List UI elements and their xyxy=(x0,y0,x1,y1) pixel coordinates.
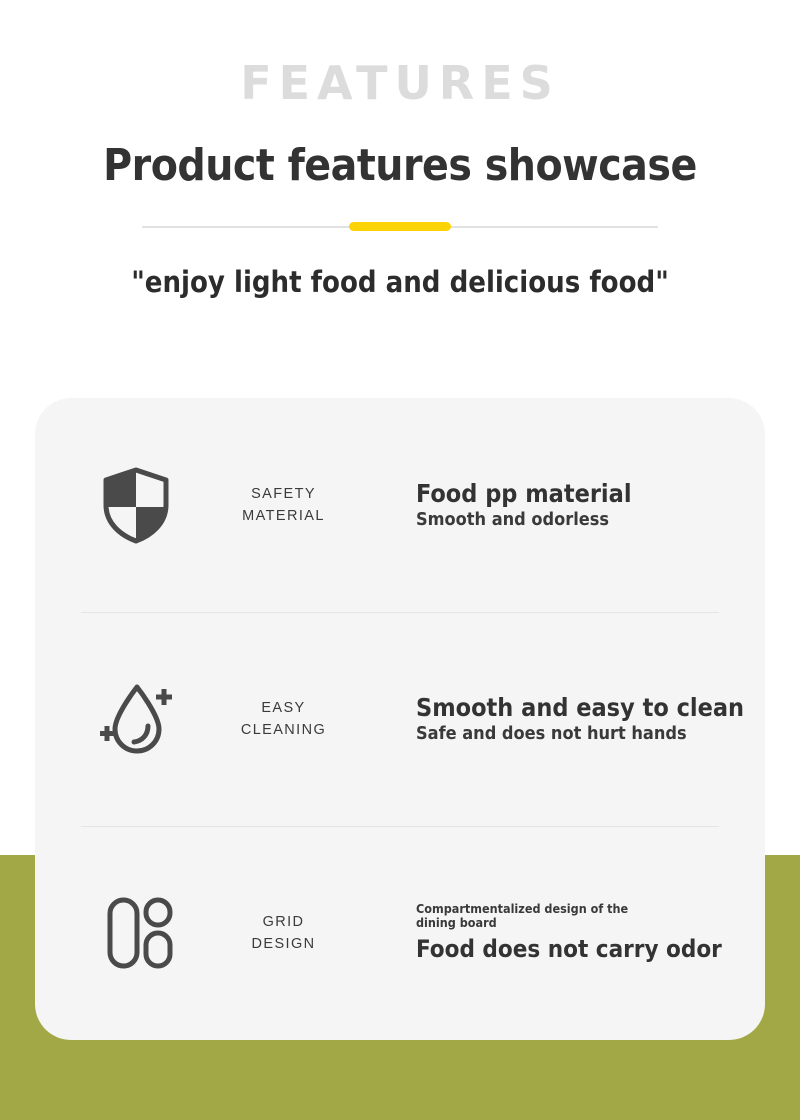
feature-label-line2: MATERIAL xyxy=(191,505,376,527)
water-drop-sparkle-icon xyxy=(81,677,191,761)
feature-row-safety-material: SAFETY MATERIAL Food pp material Smooth … xyxy=(35,398,765,612)
title-divider xyxy=(142,222,658,232)
feature-label-line2: CLEANING xyxy=(191,719,376,741)
page-subtitle: "enjoy light food and delicious food" xyxy=(0,265,800,299)
feature-label-line1: SAFETY xyxy=(191,483,376,505)
feature-text-easy-cleaning: Smooth and easy to clean Safe and does n… xyxy=(376,693,765,745)
grid-blocks-icon xyxy=(81,892,191,974)
page-header: FEATURES Product features showcase "enjo… xyxy=(0,0,800,299)
feature-headline: Food pp material xyxy=(416,479,765,509)
feature-subline: Smooth and odorless xyxy=(416,509,765,532)
feature-text-safety-material: Food pp material Smooth and odorless xyxy=(376,479,765,531)
feature-row-grid-design: GRID DESIGN Compartmentalized design of … xyxy=(35,826,765,1040)
page-title: Product features showcase xyxy=(0,142,800,190)
shield-icon xyxy=(81,465,191,545)
feature-label-line2: DESIGN xyxy=(191,933,376,955)
accent-pill xyxy=(349,222,451,231)
features-card: SAFETY MATERIAL Food pp material Smooth … xyxy=(35,398,765,1040)
feature-label-easy-cleaning: EASY CLEANING xyxy=(191,697,376,742)
feature-label-safety-material: SAFETY MATERIAL xyxy=(191,483,376,528)
features-list: SAFETY MATERIAL Food pp material Smooth … xyxy=(35,398,765,1040)
feature-headline: Smooth and easy to clean xyxy=(416,693,765,723)
feature-headline: Food does not carry odor xyxy=(416,935,765,964)
feature-label-grid-design: GRID DESIGN xyxy=(191,911,376,956)
feature-subline: Compartmentalized design of the dining b… xyxy=(416,902,666,931)
watermark-features: FEATURES xyxy=(0,60,800,106)
feature-label-line1: EASY xyxy=(191,697,376,719)
feature-row-easy-cleaning: EASY CLEANING Smooth and easy to clean S… xyxy=(35,612,765,826)
feature-subline: Safe and does not hurt hands xyxy=(416,723,765,746)
feature-label-line1: GRID xyxy=(191,911,376,933)
feature-text-grid-design: Compartmentalized design of the dining b… xyxy=(376,902,765,965)
